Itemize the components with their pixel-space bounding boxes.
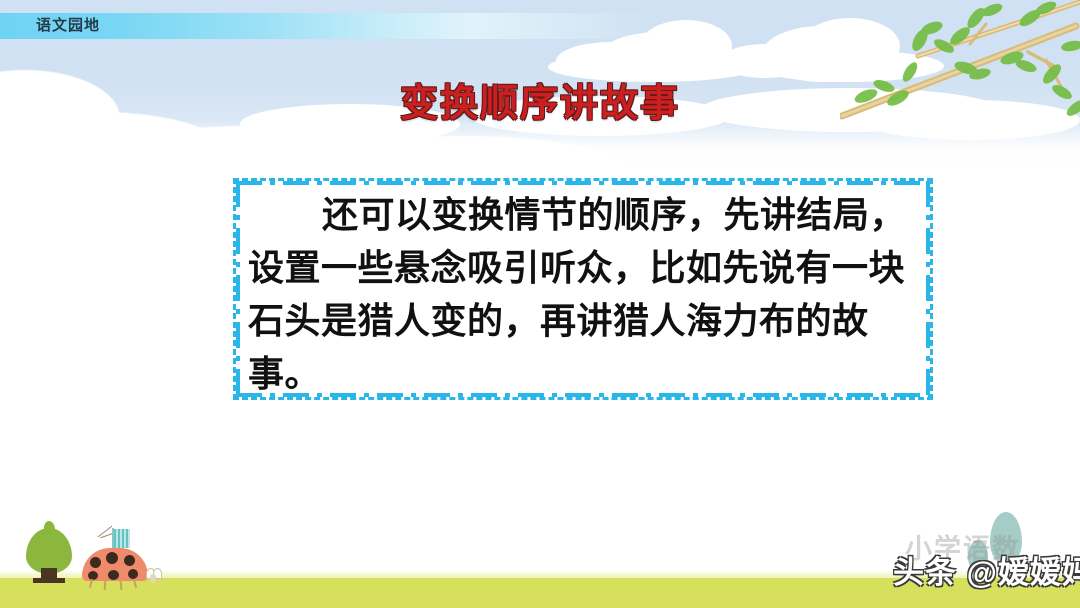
header-title: 语文园地 (36, 13, 236, 39)
content-paragraph: 还可以变换情节的顺序，先讲结局，设置一些悬念吸引听众，比如先说有一块石头是猎人变… (248, 189, 924, 401)
content-box-border-top (236, 181, 930, 185)
content-box-border-right (926, 181, 930, 397)
slide-canvas: 语文园地 变换顺序讲故事 还可以变换情节的顺序，先讲结局，设置一些悬念吸引听众，… (0, 0, 1080, 608)
content-box-border-left (236, 181, 240, 397)
page-title: 变换顺序讲故事 (0, 72, 1080, 127)
ladybug-icon (76, 528, 160, 590)
watermark-primary: 头条 @嫒嫒妈 (893, 552, 1080, 594)
butterfly-icon (146, 568, 160, 584)
content-box: 还可以变换情节的顺序，先讲结局，设置一些悬念吸引听众，比如先说有一块石头是猎人变… (233, 178, 933, 400)
ladybug-flag-icon (114, 529, 130, 548)
tree-icon (22, 528, 76, 584)
